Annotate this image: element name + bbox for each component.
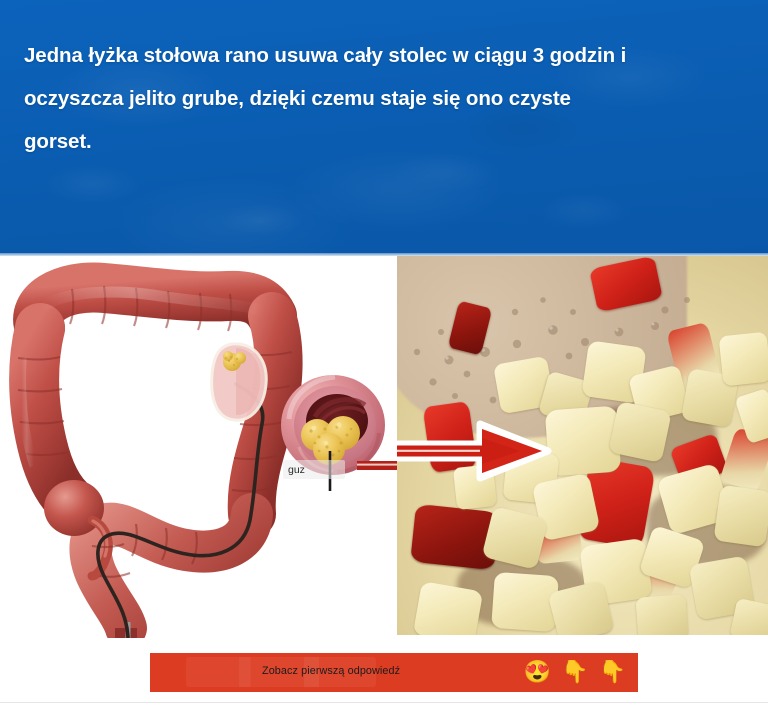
apple-cube	[608, 401, 672, 463]
apple-cube	[636, 594, 689, 635]
red-arrow-icon	[397, 420, 552, 482]
cta-emoji-group: 😍 👇 👇	[524, 657, 626, 687]
see-first-answer-button[interactable]: Zobacz pierwszą odpowiedź 😍 👇 👇	[150, 653, 638, 692]
apple-smoothie-photo	[397, 256, 768, 635]
page-root: Jedna łyżka stołowa rano usuwa cały stol…	[0, 0, 768, 713]
apple-cube	[719, 332, 768, 387]
smiling-face-with-hearts-emoji: 😍	[524, 657, 551, 687]
colon-illustration: guz	[0, 258, 397, 638]
apple-cube	[713, 485, 768, 548]
apple-cube	[413, 581, 483, 635]
bottom-divider	[0, 702, 768, 703]
page-headline: Jedna łyżka stołowa rano usuwa cały stol…	[24, 34, 724, 163]
content-area: guz	[0, 256, 768, 713]
guz-label: guz	[288, 464, 305, 476]
red-connector-left	[357, 461, 397, 470]
backhand-index-pointing-down-emoji-2: 👇	[599, 657, 626, 687]
colon-svg	[0, 258, 397, 638]
cta-label: Zobacz pierwszą odpowiedź	[262, 665, 400, 677]
backhand-index-pointing-down-emoji-1: 👇	[561, 657, 588, 687]
headline-banner: Jedna łyżka stołowa rano usuwa cały stol…	[0, 0, 768, 256]
